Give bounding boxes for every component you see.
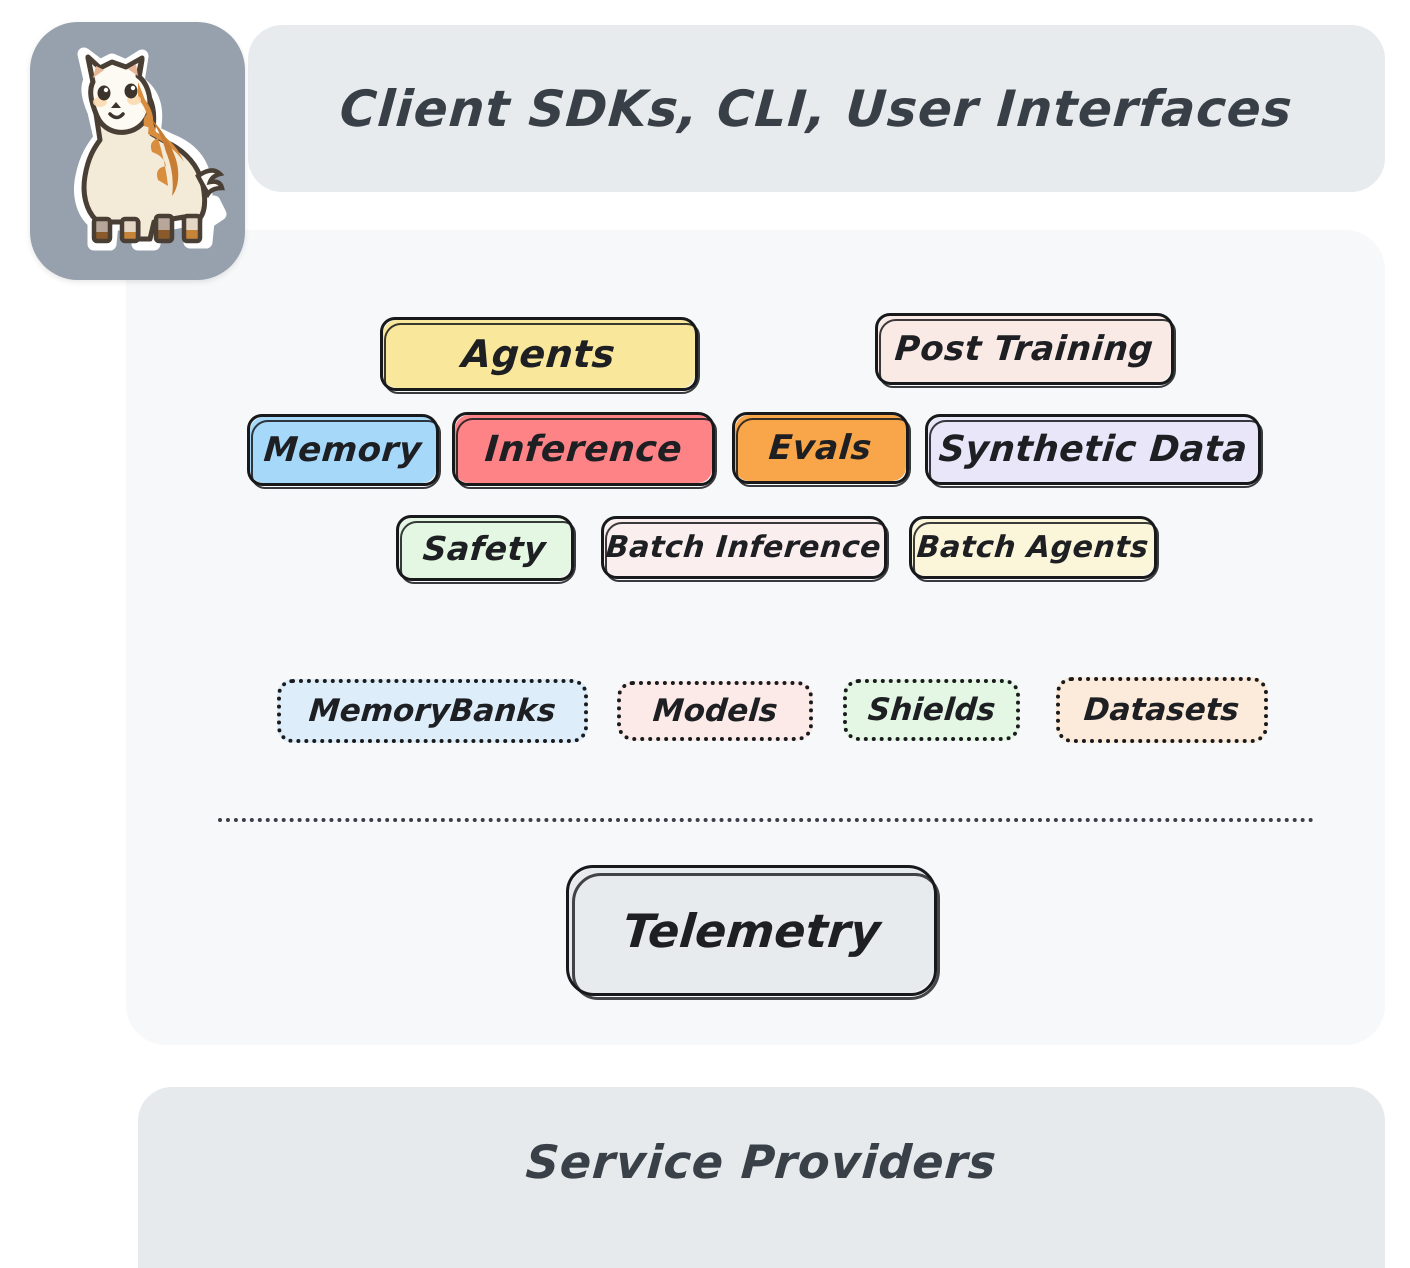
resource-box-memorybanks[interactable]: MemoryBanks: [277, 679, 588, 743]
api-box-inference[interactable]: Inference: [455, 415, 712, 483]
header-title: Client SDKs, CLI, User Interfaces: [338, 80, 1295, 138]
footer-title: Service Providers: [524, 1135, 999, 1189]
api-box-label: Agents: [460, 332, 617, 376]
resource-box-label: Models: [651, 693, 779, 729]
api-box-synthetic-data[interactable]: Synthetic Data: [928, 417, 1258, 482]
api-box-label: Synthetic Data: [937, 429, 1249, 470]
api-box-label: Batch Inference: [605, 530, 883, 565]
api-box-post-training[interactable]: Post Training: [878, 316, 1171, 382]
api-box-label: Safety: [422, 529, 548, 568]
api-box-batch-inference[interactable]: Batch Inference: [604, 519, 884, 576]
api-box-safety[interactable]: Safety: [399, 518, 571, 578]
telemetry-label: Telemetry: [620, 904, 882, 958]
api-box-label: Post Training: [894, 329, 1156, 369]
api-box-memory[interactable]: Memory: [250, 417, 436, 483]
api-box-batch-agents[interactable]: Batch Agents: [912, 519, 1154, 576]
api-box-label: Batch Agents: [916, 530, 1151, 565]
resource-box-label: MemoryBanks: [308, 693, 558, 729]
telemetry-box[interactable]: Telemetry: [569, 868, 934, 993]
api-box-agents[interactable]: Agents: [383, 320, 695, 388]
resource-box-label: Shields: [866, 692, 996, 728]
resource-box-shields[interactable]: Shields: [843, 679, 1020, 741]
api-box-label: Evals: [767, 428, 873, 468]
footer-bar: Service Providers: [138, 1087, 1385, 1268]
api-box-evals[interactable]: Evals: [735, 415, 906, 481]
resource-box-datasets[interactable]: Datasets: [1056, 677, 1268, 743]
llama-logo-tile: [30, 22, 245, 280]
api-box-label: Inference: [483, 429, 684, 470]
resource-box-label: Datasets: [1083, 692, 1241, 728]
resource-box-models[interactable]: Models: [617, 681, 813, 741]
header-bar: Client SDKs, CLI, User Interfaces: [248, 25, 1385, 192]
api-box-label: Memory: [262, 430, 423, 470]
section-divider: [218, 818, 1314, 822]
